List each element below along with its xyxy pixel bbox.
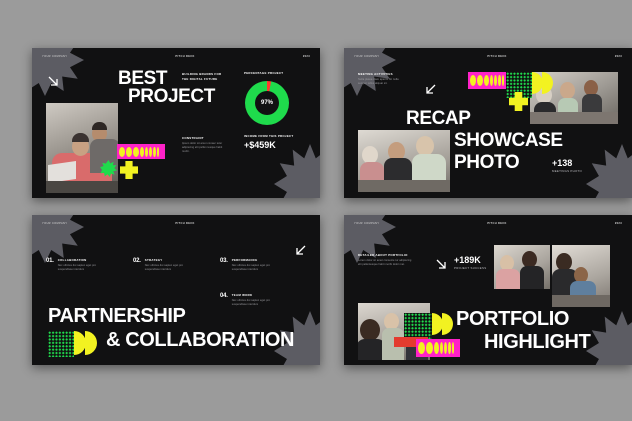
photo-count-block: +138 Meetings Photo — [552, 158, 582, 173]
count-value: +189K — [454, 255, 486, 265]
headline-line-1: RECAP — [406, 110, 471, 128]
company-label: Your Company — [42, 55, 67, 58]
slide-topbar: Your Company Pitch Deck 2023 — [344, 48, 632, 64]
item-number: 02. — [133, 258, 141, 272]
meeting-activities-block: MEETING ACTIVITIES Nulla platea diam ape… — [358, 72, 406, 86]
item-number: 04. — [220, 293, 228, 307]
headline-line-1: PARTNERSHIP — [48, 307, 185, 326]
item-number: 01. — [46, 258, 54, 272]
deck-label: Pitch Deck — [175, 222, 194, 225]
meeting-label: MEETING ACTIVITIES — [358, 72, 406, 76]
slide-partnership[interactable]: Your Company Pitch Deck 2023 01. COLLABO… — [32, 215, 320, 365]
deck-label: Pitch Deck — [487, 222, 506, 225]
company-label: Your Company — [42, 222, 67, 225]
yellow-half-circle-2 — [85, 331, 97, 355]
team-photo — [46, 103, 118, 193]
slide-topbar: Your Company Pitch Deck 2023 — [32, 48, 320, 64]
headline-line-2: PROJECT — [128, 88, 215, 106]
oval-row — [416, 339, 460, 357]
slide-recap-showcase[interactable]: Your Company Pitch Deck 2023 MEETING ACT… — [344, 48, 632, 198]
oval-row — [468, 72, 506, 89]
constraint-block: CONSTRAINT Ipsum dolor sit amet consec t… — [182, 136, 228, 154]
starburst-decoration-bottom-right — [274, 144, 320, 198]
list-item: 01. COLLABORATION Nec ultrices dui sapie… — [46, 258, 106, 272]
portfolio-label: DETAILED ABOUT PORTFOLIO — [358, 253, 412, 257]
green-dot-grid-graphic — [48, 331, 74, 357]
list-item: 03. PERFORMANCE Nec ultrices dui sapien … — [220, 258, 280, 272]
list-item: 02. STRATEGY Nec ultrices dui sapien ege… — [133, 258, 193, 272]
portfolio-photo-1 — [494, 245, 550, 289]
starburst-decoration-bottom-right — [586, 311, 632, 365]
deck-label: Pitch Deck — [175, 55, 194, 58]
constraint-body: Ipsum dolor sit amet consec tetur adipis… — [182, 142, 228, 154]
item-body: Nec ultrices dui sapien eget pro suspend… — [232, 299, 280, 307]
arrow-down-left-icon — [294, 243, 308, 262]
percentage-donut-chart: 97% — [245, 81, 289, 125]
year-label: 2023 — [615, 55, 622, 58]
count-label: Meetings Photo — [552, 169, 582, 173]
count-label: Project Success — [454, 266, 486, 270]
meeting-body: Nulla platea diam aperint fot nulla semp… — [358, 78, 406, 86]
headline-line-2: & COLLABORATION — [106, 331, 294, 350]
yellow-half-circle-2 — [442, 313, 453, 335]
arrow-down-left-icon — [424, 82, 438, 101]
stat1-label-text: PERCENTAGE PROJECT — [244, 71, 283, 75]
portfolio-detail-block: DETAILED ABOUT PORTFOLIO Lorem dolor sit… — [358, 253, 412, 267]
slide-best-project[interactable]: Your Company Pitch Deck 2023 BEST PROJEC… — [32, 48, 320, 198]
year-label: 2023 — [615, 222, 622, 225]
item-body: Nec ultrices dui sapien eget pro suspend… — [232, 264, 280, 272]
arrow-down-right-icon — [434, 257, 448, 276]
arrow-down-right-icon — [46, 74, 60, 93]
stat2-value-text: +$459K — [244, 140, 293, 150]
magenta-oval-bar-graphic — [416, 339, 460, 357]
income-stat-block: INCOME FROM THIS PROJECT +$459K — [244, 134, 293, 150]
item-label: COLLABORATION — [58, 258, 106, 262]
item-body: Nec ultrices dui sapien eget pro suspend… — [58, 264, 106, 272]
project-count-block: +189K Project Success — [454, 255, 486, 270]
tagline-block: BUILDING BRANDS FOR THE DIGITAL FUTURE — [182, 72, 226, 81]
constraint-label: CONSTRAINT — [182, 136, 228, 140]
workshop-photo-left — [358, 130, 450, 192]
yellow-x-graphic — [120, 161, 138, 179]
item-body: Nec ultrices dui sapien eget pro suspend… — [145, 264, 193, 272]
company-label: Your Company — [354, 55, 379, 58]
oval-row — [117, 144, 165, 159]
starburst-decoration-bottom-right — [586, 144, 632, 198]
headline-line-1: PORTFOLIO — [456, 310, 569, 329]
list-item: 04. TEAM WORK Nec ultrices dui sapien eg… — [220, 293, 280, 307]
item-label: TEAM WORK — [232, 293, 280, 297]
slide-portfolio[interactable]: Your Company Pitch Deck 2023 DETAILED AB… — [344, 215, 632, 365]
item-label: STRATEGY — [145, 258, 193, 262]
slide-board: Your Company Pitch Deck 2023 BEST PROJEC… — [0, 0, 632, 421]
portfolio-body: Lorem dolor sit amet consecte tur adipis… — [358, 259, 412, 267]
item-label: PERFORMANCE — [232, 258, 280, 262]
magenta-oval-bar-graphic — [117, 144, 165, 159]
magenta-oval-bar-graphic — [468, 72, 506, 89]
count-value: +138 — [552, 158, 582, 168]
year-label: 2023 — [303, 55, 310, 58]
company-label: Your Company — [354, 222, 379, 225]
headline-line-3: PHOTO — [454, 154, 519, 172]
percentage-stat-label: PERCENTAGE PROJECT — [244, 71, 283, 75]
slide-topbar: Your Company Pitch Deck 2023 — [32, 215, 320, 231]
portfolio-photo-2 — [552, 245, 610, 307]
deck-label: Pitch Deck — [487, 55, 506, 58]
stat2-label-text: INCOME FROM THIS PROJECT — [244, 134, 293, 138]
headline-line-2: HIGHLIGHT — [484, 333, 590, 352]
item-number: 03. — [220, 258, 228, 272]
donut-center-value: 97% — [255, 91, 280, 116]
tagline-text: BUILDING BRANDS FOR THE DIGITAL FUTURE — [182, 72, 226, 81]
headline-line-2: SHOWCASE — [454, 132, 563, 150]
slide-topbar: Your Company Pitch Deck 2023 — [344, 215, 632, 231]
